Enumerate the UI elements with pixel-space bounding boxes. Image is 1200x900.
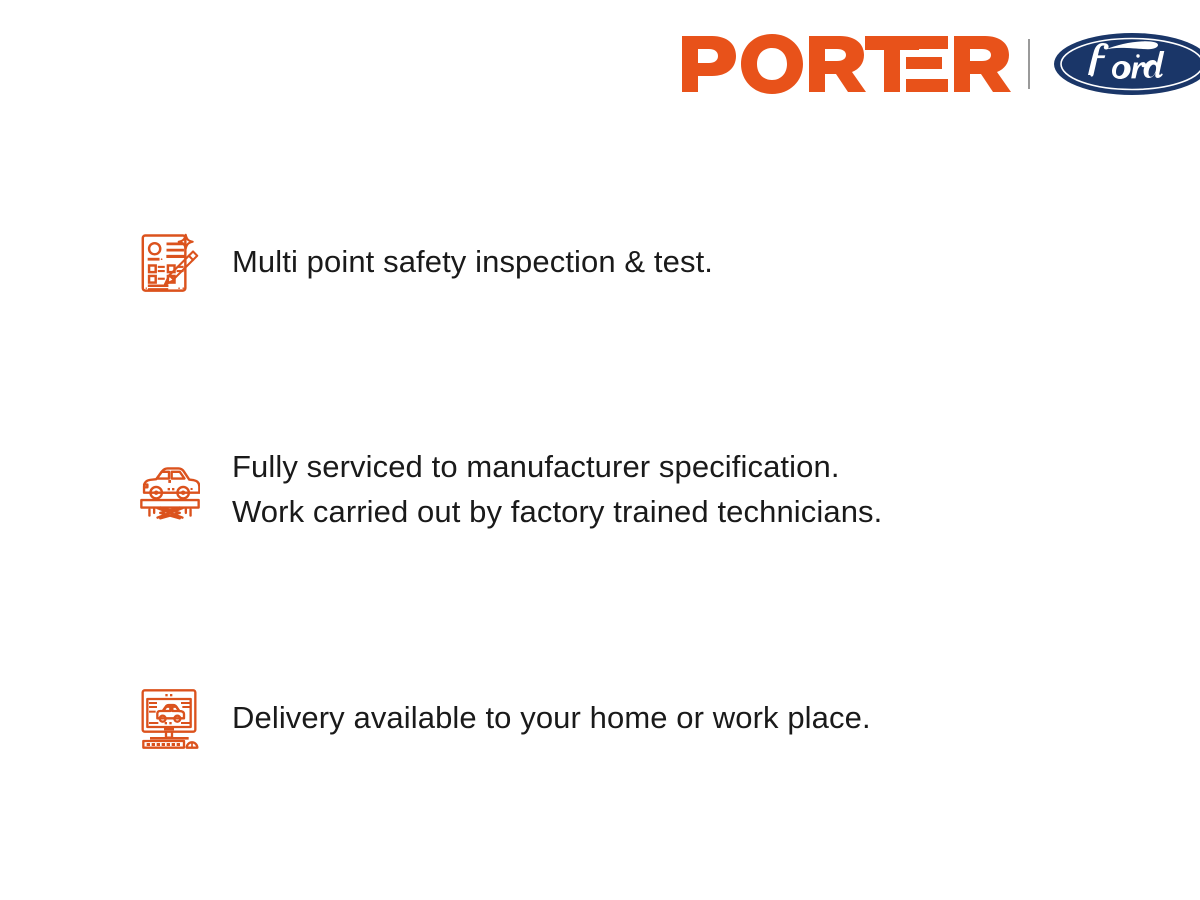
feature-row-delivery: Delivery available to your home or work … <box>0 604 1200 832</box>
ford-oval-logo <box>1052 31 1200 97</box>
clipboard-checklist-pencil-icon <box>0 174 200 350</box>
feature-text-delivery: Delivery available to your home or work … <box>200 696 871 741</box>
feature-line: Delivery available to your home or work … <box>232 696 871 741</box>
car-on-scissor-lift-icon <box>0 402 200 578</box>
feature-row-servicing: Fully serviced to manufacturer specifica… <box>0 376 1200 604</box>
feature-list: Multi point safety inspection & test. <box>0 148 1200 832</box>
porter-wordmark <box>680 28 1014 100</box>
feature-line: Fully serviced to manufacturer specifica… <box>232 445 882 490</box>
computer-monitor-car-delivery-icon <box>0 627 200 809</box>
logo-divider <box>1028 39 1030 89</box>
feature-row-inspection: Multi point safety inspection & test. <box>0 148 1200 376</box>
feature-line: Work carried out by factory trained tech… <box>232 490 882 535</box>
brand-logo-lockup <box>680 28 1200 100</box>
feature-line: Multi point safety inspection & test. <box>232 240 713 285</box>
feature-text-inspection: Multi point safety inspection & test. <box>200 240 713 285</box>
feature-text-servicing: Fully serviced to manufacturer specifica… <box>200 445 882 535</box>
promo-slide: Multi point safety inspection & test. <box>0 0 1200 900</box>
